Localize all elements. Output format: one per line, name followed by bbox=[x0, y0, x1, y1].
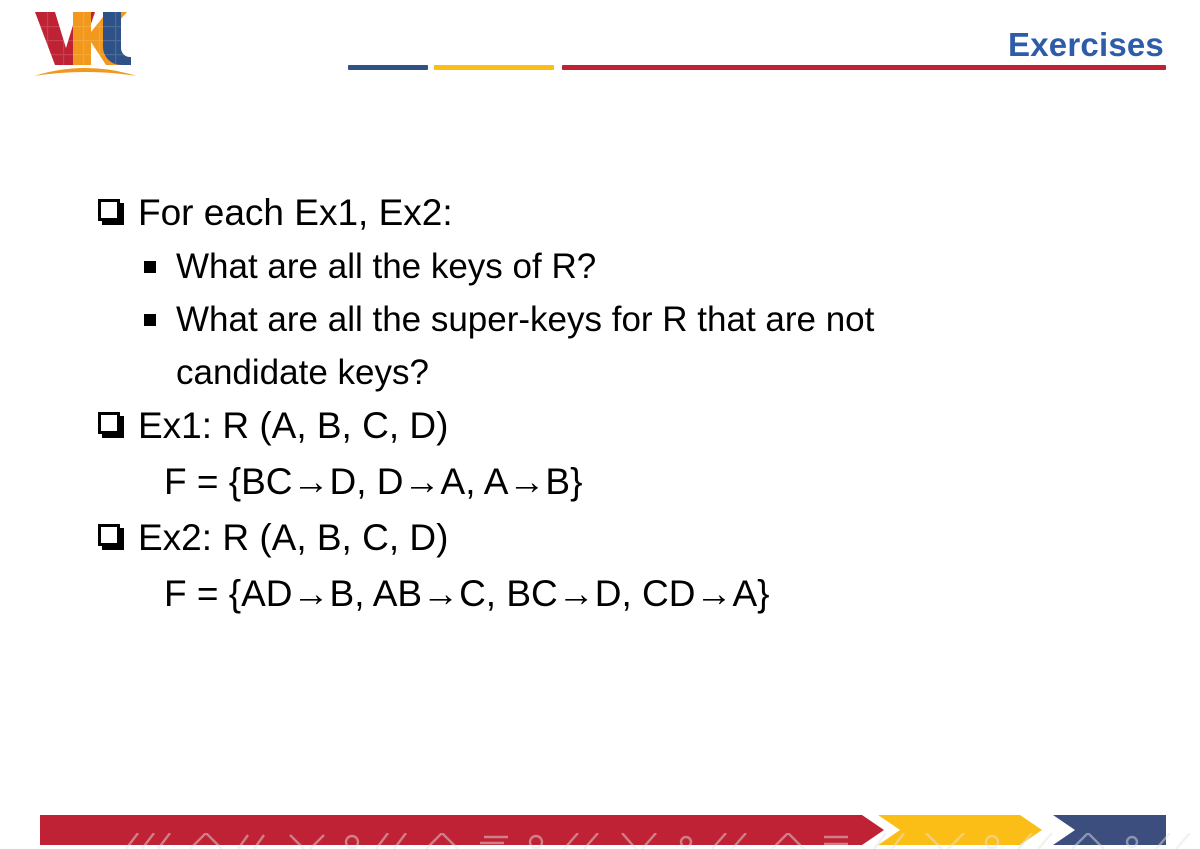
logo-swoosh bbox=[34, 68, 137, 76]
vku-logo bbox=[33, 8, 141, 78]
formula-ex2: F = {AD→B, AB→C, BC→D, CD→A} bbox=[96, 565, 1106, 623]
hollow-square-bullet-icon bbox=[98, 412, 120, 434]
page-title: Exercises bbox=[1008, 26, 1164, 64]
sub-bullet-item-keys: What are all the keys of R? bbox=[96, 240, 1106, 293]
bullet-text: For each Ex1, Ex2: bbox=[138, 192, 453, 233]
slide-content: For each Ex1, Ex2: What are all the keys… bbox=[96, 186, 1106, 623]
filled-square-bullet-icon bbox=[144, 261, 156, 273]
vku-logo-mark bbox=[33, 8, 141, 78]
sub-bullet-text-line2: candidate keys? bbox=[176, 346, 1106, 399]
hollow-square-bullet-icon bbox=[98, 199, 120, 221]
footer-arrow-bars bbox=[0, 800, 1200, 849]
bullet-item-ex1: Ex1: R (A, B, C, D) bbox=[96, 399, 1106, 453]
header-rule-red bbox=[562, 65, 1166, 70]
bullet-item-ex2: Ex2: R (A, B, C, D) bbox=[96, 511, 1106, 565]
header-rule-yellow bbox=[434, 65, 554, 70]
hollow-square-bullet-icon bbox=[98, 524, 120, 546]
footer-blue-chevron bbox=[1053, 815, 1166, 845]
logo-letter-u bbox=[103, 12, 131, 65]
footer-yellow-chevron bbox=[878, 815, 1042, 845]
formula-ex1: F = {BC→D, D→A, A→B} bbox=[96, 453, 1106, 511]
bullet-item-for-each: For each Ex1, Ex2: bbox=[96, 186, 1106, 240]
footer-red-arrow-bar bbox=[40, 815, 884, 845]
sub-bullet-text-line1: What are all the super-keys for R that a… bbox=[176, 293, 1106, 346]
sub-bullet-item-superkeys: What are all the super-keys for R that a… bbox=[96, 293, 1106, 399]
bullet-text: Ex2: R (A, B, C, D) bbox=[138, 517, 448, 558]
sub-bullet-text: What are all the keys of R? bbox=[176, 247, 596, 286]
header-rule-blue bbox=[348, 65, 428, 70]
slide-canvas: Exercises For each Ex1, Ex2: What are al… bbox=[0, 0, 1200, 849]
slide-footer bbox=[0, 800, 1200, 849]
slide-header: Exercises bbox=[0, 0, 1200, 95]
bullet-text: Ex1: R (A, B, C, D) bbox=[138, 405, 448, 446]
filled-square-bullet-icon bbox=[144, 314, 156, 326]
